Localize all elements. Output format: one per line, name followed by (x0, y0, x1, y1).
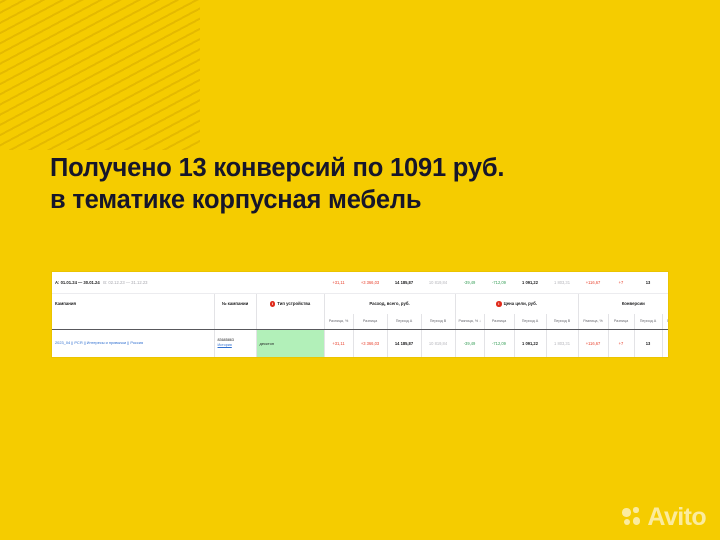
cell-spend-period-a: 14 185,87 (387, 329, 421, 357)
period-label: A: 01.01.24 — 30.01.24 B: 02.12.23 — 31.… (55, 280, 147, 285)
period-range-cell: A: 01.01.24 — 30.01.24 B: 02.12.23 — 31.… (52, 272, 324, 293)
report-table: A: 01.01.24 — 30.01.24 B: 02.12.23 — 31.… (52, 272, 668, 357)
summary-value: +3 366,03 (361, 280, 379, 285)
avito-logo-icon (622, 507, 643, 528)
cell-value: +3 366,03 (361, 341, 379, 346)
group-header-row: Кампания № кампании iТип устройства Расх… (52, 293, 668, 314)
sub-header-label: Разница, % (329, 319, 349, 323)
column-group-campaign-number[interactable]: № кампании (214, 293, 256, 314)
cell-goal-diff-percent: -39,49 (455, 329, 484, 357)
column-group-goal-price[interactable]: iЦена цели, руб. (455, 293, 578, 314)
info-icon[interactable]: i (270, 301, 276, 307)
column-group-spend[interactable]: Расход, всего, руб. (324, 293, 455, 314)
sub-header-label: Период B (667, 319, 668, 323)
sub-header-conv-diff[interactable]: Разница (608, 314, 634, 329)
sub-header-spend-period-a[interactable]: Период A (387, 314, 421, 329)
period-a-marker: A: (55, 280, 59, 285)
summary-value: +7 (619, 280, 624, 285)
summary-cell: 1 091,22 (514, 272, 546, 293)
cell-value: 13 (646, 341, 651, 346)
summary-value: 10 819,84 (429, 280, 447, 285)
sub-header-label: Разница (614, 319, 628, 323)
column-group-campaign-label: Кампания (55, 301, 76, 306)
sub-header-empty (52, 314, 214, 329)
summary-cell: -712,09 (484, 272, 514, 293)
sub-header-label: Период B (554, 319, 570, 323)
period-a-range: 01.01.24 — 30.01.24 (61, 280, 100, 285)
headline: Получено 13 конверсий по 1091 руб. в тем… (50, 152, 650, 216)
cell-conv-period-b: 6 (662, 329, 668, 357)
summary-cell: +116,67 (578, 272, 608, 293)
sub-header-goal-diff[interactable]: Разница (484, 314, 514, 329)
avito-logo-dot (633, 507, 639, 513)
sub-header-empty (214, 314, 256, 329)
cell-goal-period-b: 1 803,31 (546, 329, 578, 357)
avito-logo-dot (624, 519, 630, 525)
device-type-value: десктоп (260, 341, 275, 346)
cell-conv-diff: +7 (608, 329, 634, 357)
cell-value: -712,09 (492, 341, 506, 346)
headline-line-2: в тематике корпусная мебель (50, 184, 650, 216)
summary-cell: 14 185,87 (387, 272, 421, 293)
sub-header-goal-period-b[interactable]: Период B (546, 314, 578, 329)
column-group-conversions-label: Конверсии (622, 301, 645, 306)
summary-value: 1 091,22 (522, 280, 538, 285)
sub-header-label: Период A (522, 319, 538, 323)
summary-value: 14 185,87 (395, 280, 413, 285)
summary-value: -712,09 (492, 280, 506, 285)
sub-header-goal-period-a[interactable]: Период A (514, 314, 546, 329)
period-b-marker: B: (103, 280, 107, 285)
sub-header-empty (256, 314, 324, 329)
cell-value: 10 819,84 (429, 341, 447, 346)
cell-value: 1 803,31 (554, 341, 570, 346)
summary-value: -39,49 (464, 280, 476, 285)
sub-header-spend-diff[interactable]: Разница (353, 314, 387, 329)
campaign-history-link[interactable]: История (218, 343, 253, 349)
period-b-range: 02.12.23 — 31.12.23 (108, 280, 147, 285)
summary-cell: 6 (662, 272, 668, 293)
summary-cell: +31,11 (324, 272, 353, 293)
column-group-campaign-number-label: № кампании (222, 301, 249, 306)
summary-cell: 10 819,84 (421, 272, 455, 293)
summary-row: A: 01.01.24 — 30.01.24 B: 02.12.23 — 31.… (52, 272, 668, 293)
sub-header-label: Период B (430, 319, 446, 323)
sub-header-label: Разница (492, 319, 506, 323)
column-group-campaign[interactable]: Кампания (52, 293, 214, 314)
sub-header-goal-diff-percent[interactable]: Разница, % ↓ (455, 314, 484, 329)
summary-cell: +3 366,03 (353, 272, 387, 293)
promo-card: Получено 13 конверсий по 1091 руб. в тем… (0, 0, 720, 540)
summary-value: +31,11 (332, 280, 344, 285)
column-group-goal-price-label: Цена цели, руб. (504, 301, 537, 306)
avito-watermark: Avito (622, 505, 706, 530)
sub-header-row: Разница, % Разница Период A Период B Раз… (52, 314, 668, 329)
campaign-name-cell[interactable]: 2023_04 || РСЯ || Интересы и привычки ||… (52, 329, 214, 357)
device-type-cell: десктоп (256, 329, 324, 357)
report-table-card: A: 01.01.24 — 30.01.24 B: 02.12.23 — 31.… (52, 272, 668, 357)
headline-line-1: Получено 13 конверсий по 1091 руб. (50, 152, 650, 184)
sub-header-label: Разница, % ↓ (459, 319, 482, 323)
summary-cell: +7 (608, 272, 634, 293)
sub-header-conv-period-b[interactable]: Период B (662, 314, 668, 329)
sub-header-conv-diff-percent[interactable]: Разница, % (578, 314, 608, 329)
summary-value: +116,67 (586, 280, 601, 285)
summary-cell: -39,49 (455, 272, 484, 293)
column-group-device-type-label: Тип устройства (277, 301, 310, 306)
column-group-device-type[interactable]: iТип устройства (256, 293, 324, 314)
cell-value: -39,49 (464, 341, 476, 346)
campaign-name-link[interactable]: 2023_04 || РСЯ || Интересы и привычки ||… (55, 340, 211, 346)
avito-wordmark: Avito (647, 505, 706, 530)
sub-header-label: Разница (363, 319, 377, 323)
sub-header-label: Период A (640, 319, 656, 323)
campaign-number-cell: 83685863 История (214, 329, 256, 357)
cell-goal-period-a: 1 091,22 (514, 329, 546, 357)
cell-value: +31,11 (332, 341, 344, 346)
summary-value: 1 803,31 (554, 280, 570, 285)
sub-header-spend-diff-percent[interactable]: Разница, % (324, 314, 353, 329)
avito-logo-dot (622, 508, 631, 517)
cell-spend-period-b: 10 819,84 (421, 329, 455, 357)
cell-value: 1 091,22 (522, 341, 538, 346)
cell-value: +7 (619, 341, 624, 346)
cell-conv-diff-percent: +116,67 (578, 329, 608, 357)
decorative-stripes (0, 0, 200, 150)
table-row[interactable]: 2023_04 || РСЯ || Интересы и привычки ||… (52, 329, 668, 357)
cell-spend-diff: +3 366,03 (353, 329, 387, 357)
summary-cell: 1 803,31 (546, 272, 578, 293)
avito-logo-dot (633, 517, 641, 525)
cell-value: 14 185,87 (395, 341, 413, 346)
cell-goal-diff: -712,09 (484, 329, 514, 357)
info-icon[interactable]: i (496, 301, 502, 307)
sub-header-label: Период A (396, 319, 412, 323)
sub-header-spend-period-b[interactable]: Период B (421, 314, 455, 329)
summary-cell: 13 (634, 272, 662, 293)
sub-header-label: Разница, % (583, 319, 603, 323)
cell-spend-diff-percent: +31,11 (324, 329, 353, 357)
cell-value: +116,67 (586, 341, 601, 346)
column-group-conversions[interactable]: Конверсии (578, 293, 668, 314)
cell-conv-period-a: 13 (634, 329, 662, 357)
sub-header-conv-period-a[interactable]: Период A (634, 314, 662, 329)
summary-value: 13 (646, 280, 651, 285)
column-group-spend-label: Расход, всего, руб. (369, 301, 409, 306)
